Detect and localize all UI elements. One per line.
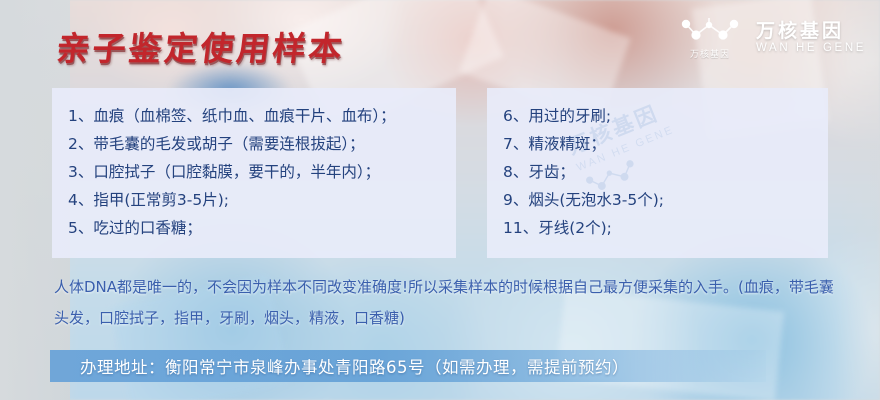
list-item: 8、牙齿；	[503, 158, 812, 186]
list-item: 9、烟头(无泡水3-5个);	[503, 186, 812, 214]
brand-text: 万核基因 WAN HE GENE	[756, 21, 866, 55]
sample-list-right: 6、用过的牙刷; 7、精液精斑； 8、牙齿； 9、烟头(无泡水3-5个); 11…	[503, 102, 812, 242]
sample-list-left: 1、血痕（血棉签、纸巾血、血痕干片、血布）； 2、带毛囊的毛发或胡子（需要连根拔…	[68, 102, 440, 242]
brand-logo: 万核基因 万核基因 WAN HE GENE	[678, 16, 866, 60]
list-item: 7、精液精斑；	[503, 130, 812, 158]
address-bar: 办理地址：衡阳常宁市泉峰办事处青阳路65号（如需办理，需提前预约）	[50, 350, 766, 382]
brand-mark-label: 万核基因	[690, 47, 730, 60]
note-paragraph: 人体DNA都是唯一的，不会因为样本不同改变准确度!所以采集样本的时候根据自己最方…	[54, 272, 844, 334]
brand-mark: 万核基因	[678, 16, 742, 60]
list-item: 1、血痕（血棉签、纸巾血、血痕干片、血布）；	[68, 102, 440, 130]
list-item: 5、吃过的口香糖；	[68, 214, 440, 242]
poster-title: 亲子鉴定使用样本	[54, 22, 348, 70]
list-item: 3、口腔拭子（口腔黏膜，要干的，半年内）；	[68, 158, 440, 186]
brand-name-cn: 万核基因	[756, 21, 866, 42]
list-item: 4、指甲(正常剪3-5片);	[68, 186, 440, 214]
sample-list-panel-left: 1、血痕（血棉签、纸巾血、血痕干片、血布）； 2、带毛囊的毛发或胡子（需要连根拔…	[52, 88, 456, 258]
list-item: 6、用过的牙刷;	[503, 102, 812, 130]
address-bar-text: 办理地址：衡阳常宁市泉峰办事处青阳路65号（如需办理，需提前预约）	[50, 354, 629, 378]
poster-root: 亲子鉴定使用样本 万核基因	[0, 0, 880, 400]
list-item: 11、牙线(2个);	[503, 214, 812, 242]
list-item: 2、带毛囊的毛发或胡子（需要连根拔起）；	[68, 130, 440, 158]
brand-name-en: WAN HE GENE	[756, 42, 866, 55]
sample-list-panel-right: 万核基因 WAN HE GENE 6、用过的牙刷;	[487, 88, 828, 258]
molecule-icon	[678, 16, 742, 44]
